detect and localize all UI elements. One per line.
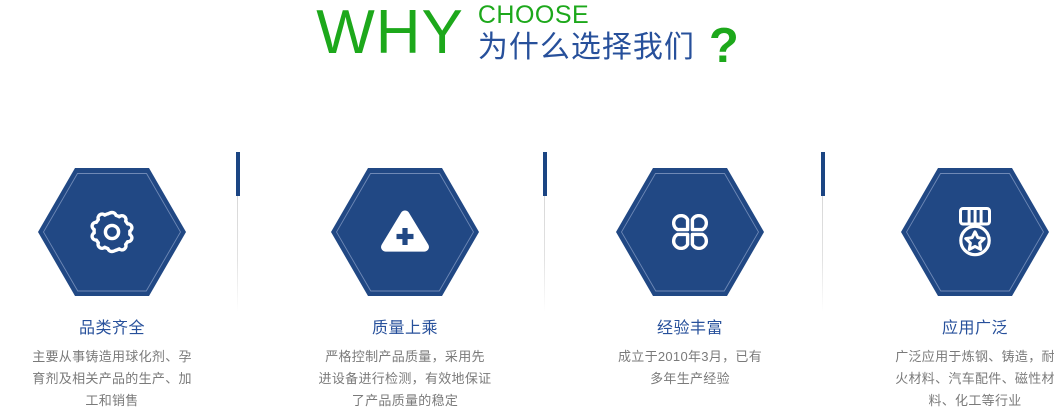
card-description: 严格控制产品质量，采用先 进设备进行检测，有效地保证 了产品质量的稳定: [298, 346, 513, 412]
card-title: 应用广泛: [942, 319, 1008, 339]
card-description-line: 成立于2010年3月，已有: [583, 346, 798, 368]
gear-icon: [38, 168, 186, 296]
heading-middle-group: CHOOSE 为什么选择我们: [478, 2, 695, 65]
why-choose-us-section: WHY CHOOSE 为什么选择我们 ?: [0, 0, 1055, 416]
card-description-line: 进设备进行检测，有效地保证: [298, 368, 513, 390]
feature-card-zhiliang-shangcheng[interactable]: 质量上乘 严格控制产品质量，采用先 进设备进行检测，有效地保证 了产品质量的稳定: [285, 150, 525, 416]
card-title: 品类齐全: [79, 319, 145, 339]
hexagon-badge-4: [901, 168, 1049, 296]
heading-question-mark: ?: [709, 22, 739, 71]
medal-icon: [901, 168, 1049, 296]
card-title: 经验丰富: [657, 319, 723, 339]
hexagon-badge-3: [616, 168, 764, 296]
card-description-line: 广泛应用于炼钢、铸造，耐: [868, 346, 1055, 368]
clover-icon: [616, 168, 764, 296]
heading-choose: CHOOSE: [478, 2, 695, 28]
hexagon-badge-2: [331, 168, 479, 296]
card-description-line: 了产品质量的稳定: [298, 390, 513, 412]
feature-card-pinlei-qiquan[interactable]: 品类齐全 主要从事铸造用球化剂、孕 育剂及相关产品的生产、加 工和销售: [0, 150, 232, 416]
card-description-line: 工和销售: [5, 390, 220, 412]
card-description-line: 火材料、汽车配件、磁性材: [868, 368, 1055, 390]
section-header: WHY CHOOSE 为什么选择我们 ?: [0, 0, 1055, 96]
feature-card-yingyong-guangfan[interactable]: 应用广泛 广泛应用于炼钢、铸造，耐 火材料、汽车配件、磁性材 料、化工等行业: [855, 150, 1055, 416]
heading-subtitle-cn: 为什么选择我们: [478, 31, 695, 65]
triangle-plus-icon: [331, 168, 479, 296]
card-description-line: 料、化工等行业: [868, 390, 1055, 412]
card-description: 成立于2010年3月，已有 多年生产经验: [583, 346, 798, 390]
card-description: 广泛应用于炼钢、铸造，耐 火材料、汽车配件、磁性材 料、化工等行业: [868, 346, 1055, 412]
feature-card-jingyan-fengfu[interactable]: 经验丰富 成立于2010年3月，已有 多年生产经验: [570, 150, 810, 416]
header-inner: WHY CHOOSE 为什么选择我们 ?: [0, 0, 1055, 96]
heading-why: WHY: [316, 2, 464, 64]
hexagon-badge-1: [38, 168, 186, 296]
card-description-line: 多年生产经验: [583, 368, 798, 390]
card-description-line: 严格控制产品质量，采用先: [298, 346, 513, 368]
card-description: 主要从事铸造用球化剂、孕 育剂及相关产品的生产、加 工和销售: [5, 346, 220, 412]
card-title: 质量上乘: [372, 319, 438, 339]
card-description-line: 主要从事铸造用球化剂、孕: [5, 346, 220, 368]
card-description-line: 育剂及相关产品的生产、加: [5, 368, 220, 390]
feature-cards-row: 品类齐全 主要从事铸造用球化剂、孕 育剂及相关产品的生产、加 工和销售: [0, 150, 1055, 416]
